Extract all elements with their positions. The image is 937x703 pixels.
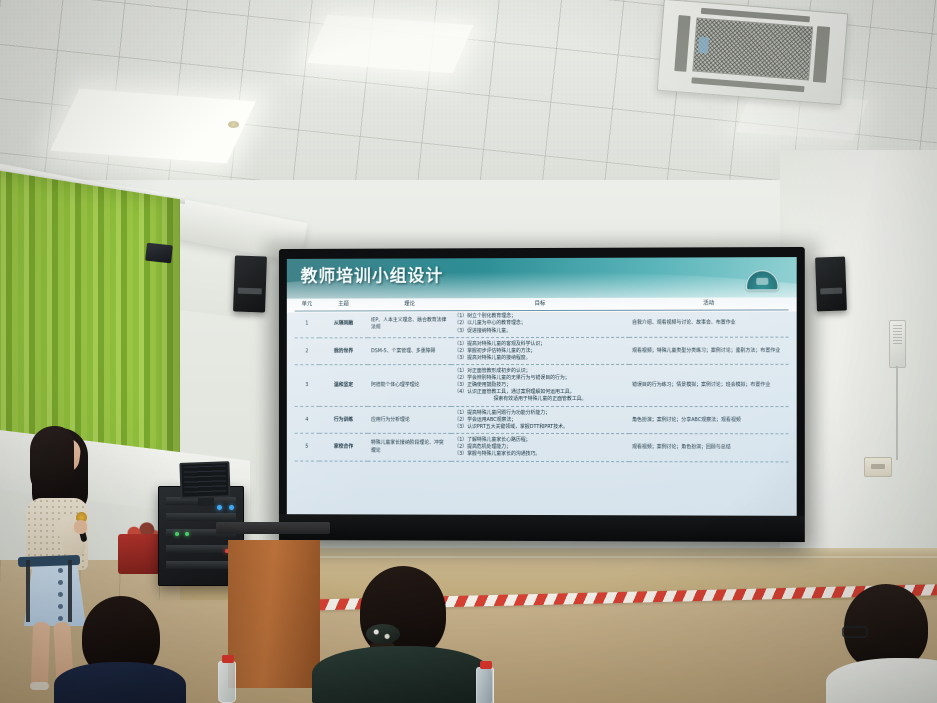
water-bottle[interactable] — [218, 661, 236, 703]
torso — [312, 646, 492, 703]
projection-screen[interactable]: 教师培训小组设计 单元 主题 理论 目标 活动 1 — [279, 247, 805, 542]
cell-theory: IEP、人本主义理念、融合教育法律法规 — [368, 311, 451, 338]
presenter-hand — [74, 520, 87, 534]
monitor-screen — [184, 465, 227, 494]
cell-activities: 角色扮演；案例讨论；分享ABC观察法；观看视频 — [629, 407, 789, 435]
column-header-unit: 单元 — [295, 300, 319, 311]
cell-goals: （1）对正面管教形成初步的认识； （2）学会辨别特殊儿童的无果行为与错误目的行为… — [451, 365, 629, 407]
cell-unit: 3 — [295, 365, 319, 406]
ac-grille — [692, 18, 813, 81]
presentation-slide: 教师培训小组设计 单元 主题 理论 目标 活动 1 — [287, 257, 797, 516]
presenter-leg — [31, 622, 50, 689]
ceiling-ac-unit — [657, 0, 849, 105]
cell-activities: 观看视频；特殊儿童类型分类练习；案例讨论；鉴别方法；布置作业 — [629, 337, 789, 365]
goal-line: （2）以儿童为中心的教育理念； — [454, 320, 525, 326]
power-led-icon — [217, 505, 222, 510]
panel-light-2 — [307, 15, 474, 73]
ac-vent — [691, 77, 805, 92]
cell-goals: （1）了解特殊儿童家长心路历程； （2）提高危机处理能力； （3）掌握与特殊儿童… — [451, 434, 629, 462]
goal-note: 探索有效适用于特殊儿童的正面管教工具。 — [454, 396, 626, 403]
cell-activities: 观看视频；案例讨论；角色扮演；回顾与总结 — [629, 434, 789, 462]
ac-vent — [674, 15, 691, 72]
cell-unit: 5 — [295, 434, 319, 461]
table-row: 2 我的世界 DSM-5、个案管理、多重障碍 （1）提高对特殊儿童的客观及科学认… — [295, 337, 789, 365]
status-led-icon — [185, 532, 189, 536]
audience-member-left — [54, 596, 186, 703]
cell-goals: （1）提高特殊儿童问题行为功能分析能力； （2）学会运用ABC观察法； （3）认… — [451, 407, 629, 434]
torso — [826, 658, 937, 703]
wall-speaker-right — [815, 256, 847, 311]
presenter-hair-front — [30, 426, 74, 500]
cell-theory: 特殊儿童家长接纳阶段理论、冲突理论 — [368, 434, 451, 461]
screen-display-area: 教师培训小组设计 单元 主题 理论 目标 活动 1 — [287, 257, 797, 516]
goal-line: （1）提高对特殊儿童的客观及科学认识； — [454, 341, 545, 347]
table-row: 4 行为训练 应用行为分析理论 （1）提高特殊儿童问题行为功能分析能力； （2）… — [295, 406, 789, 434]
hair-scrunchie — [366, 624, 400, 644]
column-header-goal: 目标 — [451, 299, 629, 311]
status-led-icon — [175, 532, 179, 536]
podium-top-surface — [216, 522, 330, 534]
lecture-hall-photo: 教师培训小组设计 单元 主题 理论 目标 活动 1 — [0, 0, 937, 703]
cell-theory: 应用行为分析理论 — [368, 406, 451, 433]
cell-theory: DSM-5、个案管理、多重障碍 — [368, 338, 451, 365]
torso — [54, 662, 186, 703]
goal-line: （4）认识正面管教工具，通过案例理解如何运用工具， — [454, 389, 574, 395]
ac-badge — [697, 37, 708, 54]
screen-frame-bottom — [279, 514, 805, 542]
wooden-podium — [228, 540, 320, 688]
goal-line: （3）认识PRT五大关键领域，掌握DTT和PRT技术。 — [454, 424, 568, 430]
audience-member-right — [836, 584, 937, 703]
downlight-icon — [228, 121, 239, 128]
eyeglasses-icon — [842, 626, 868, 638]
column-header-topic: 主题 — [319, 299, 368, 310]
goal-line: （1）提高特殊儿童问题行为功能分析能力； — [454, 409, 550, 415]
projector-mount — [145, 243, 173, 264]
cell-topic: 从隔到融 — [319, 311, 368, 338]
goal-line: （2）学会辨别特殊儿童的无果行为与错误目的行为； — [454, 375, 569, 381]
panel-light-1 — [50, 89, 256, 164]
wall-speaker-left — [233, 255, 267, 312]
flower-basket — [118, 534, 162, 574]
column-header-theory: 理论 — [368, 299, 451, 310]
water-bottle[interactable] — [476, 667, 494, 703]
table-row: 1 从隔到融 IEP、人本主义理念、融合教育法律法规 （1）树立个别化教育理念；… — [295, 310, 789, 338]
monitor-stand — [198, 497, 214, 506]
speaker-cable — [896, 366, 898, 460]
cell-unit: 1 — [295, 311, 319, 338]
slide-title: 教师培训小组设计 — [301, 261, 444, 286]
cell-topic: 我的世界 — [319, 338, 368, 365]
curriculum-table: 单元 主题 理论 目标 活动 1 从隔到融 IEP、人本主义理念、融合教育法律法… — [295, 298, 789, 462]
cell-theory: 阿德勒个体心理学理论 — [368, 365, 451, 406]
wall-outlet[interactable] — [864, 457, 892, 477]
goal-line: （2）学会运用ABC观察法； — [454, 417, 516, 423]
rack-slot — [166, 561, 237, 569]
power-led-icon — [229, 505, 234, 510]
cell-unit: 2 — [295, 338, 319, 365]
cell-topic: 家校合作 — [319, 434, 368, 461]
table-row: 3 温和坚定 阿德勒个体心理学理论 （1）对正面管教形成初步的认识； （2）学会… — [295, 365, 789, 407]
goal-line: （3）促进接纳特殊儿童。 — [454, 328, 511, 334]
column-header-activity: 活动 — [629, 298, 789, 310]
goal-line: （1）树立个别化教育理念； — [454, 313, 516, 319]
table-row: 5 家校合作 特殊儿童家长接纳阶段理论、冲突理论 （1）了解特殊儿童家长心路历程… — [295, 434, 789, 462]
cell-goals: （1）提高对特殊儿童的客观及科学认识； （2）掌握初步评估特殊儿童的方法； （3… — [451, 338, 629, 366]
audience-member-center — [312, 566, 492, 703]
presenter-shoe — [30, 682, 49, 690]
control-monitor[interactable] — [179, 461, 230, 499]
rack-slot — [166, 513, 237, 521]
cell-activities: 错误目的行为练习；情景模拟；案例讨论；班会模拟；布置作业 — [629, 365, 789, 407]
goal-line: （1）了解特殊儿童家长心路历程； — [454, 437, 530, 443]
goal-line: （3）正确使用鼓励技巧； — [454, 382, 511, 388]
wall-speaker-white — [889, 320, 906, 368]
ac-vent — [813, 26, 830, 83]
goal-line: （2）提高危机处理能力； — [454, 444, 511, 450]
cell-goals: （1）树立个别化教育理念； （2）以儿童为中心的教育理念； （3）促进接纳特殊儿… — [451, 310, 629, 338]
goal-line: （1）对正面管教形成初步的认识； — [454, 368, 530, 374]
goal-line: （2）掌握初步评估特殊儿童的方法； — [454, 348, 535, 354]
cell-unit: 4 — [295, 406, 319, 433]
cell-activities: 自我介绍、观看视频与讨论、故事会、布置作业 — [629, 310, 789, 338]
cell-topic: 温和坚定 — [319, 365, 368, 406]
goal-line: （3）掌握与特殊儿童家长的沟通技巧。 — [454, 451, 540, 457]
cell-topic: 行为训练 — [319, 406, 368, 433]
goal-line: （3）提高对特殊儿童的接纳程度。 — [454, 355, 530, 361]
